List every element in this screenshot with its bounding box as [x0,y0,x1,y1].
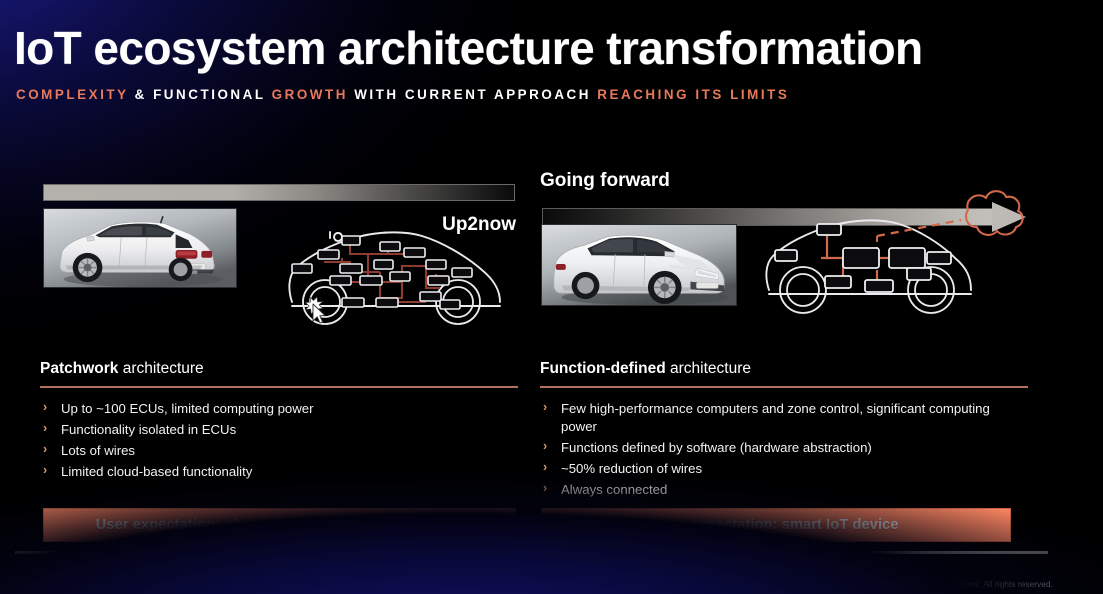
left-architecture-diagram [280,210,510,330]
svg-text:aws: aws [22,565,48,581]
left-bullet-list: ›Up to ~100 ECUs, limited computing powe… [40,400,518,481]
timeline-bar-past [43,184,515,201]
right-section-title-bold: Function-defined [540,360,666,377]
list-item: ›Functions defined by software (hardware… [540,439,1028,457]
right-section: Function-defined architecture ›Few high-… [540,360,1028,502]
right-expectation-banner: User expectation: smart IoT device [541,508,1011,542]
list-item: ›Up to ~100 ECUs, limited computing powe… [40,400,518,418]
list-item: ›Always connected [540,481,1028,499]
subtitle-part-3: WITH CURRENT APPROACH [348,87,597,102]
bullet-text: Always connected [561,482,667,497]
right-bullet-list: ›Few high-performance computers and zone… [540,400,1028,498]
chevron-right-icon: › [543,399,547,416]
right-panel: Going forward [540,178,1028,356]
bullet-text: Few high-performance computers and zone … [561,401,990,434]
left-section-title-rest: architecture [118,360,203,377]
left-section-rule [40,386,518,388]
right-section-title-rest: architecture [666,360,751,377]
left-expectation-banner: User expectation: pleasure, safety, and … [43,508,516,542]
left-section: Patchwork architecture ›Up to ~100 ECUs,… [40,360,518,484]
left-car-photo [43,208,237,288]
left-section-title: Patchwork architecture [40,360,518,378]
right-architecture-diagram [755,186,1025,321]
subtitle-part-2: GROWTH [272,87,348,102]
cloud-icon [966,191,1023,235]
subtitle-part-0: COMPLEXITY [16,87,128,102]
right-stage-label: Going forward [540,170,670,192]
chevron-right-icon: › [543,459,547,476]
list-item: ›Few high-performance computers and zone… [540,400,1028,435]
bullet-text: Limited cloud-based functionality [61,464,252,479]
right-section-rule [540,386,1028,388]
right-stage: Going forward [540,178,1028,356]
aws-logo-icon: aws [22,565,62,589]
bullet-text: Functions defined by software (hardware … [561,440,872,455]
subtitle-part-4: REACHING ITS LIMITS [597,87,789,102]
chevron-right-icon: › [43,462,47,479]
list-item: ›Functionality isolated in ECUs [40,421,518,439]
chevron-right-icon: › [543,438,547,455]
page-title: IoT ecosystem architecture transformatio… [14,24,922,72]
bullet-text: Lots of wires [61,443,135,458]
footer-divider [15,551,1048,554]
chevron-right-icon: › [43,399,47,416]
bullet-text: ~50% reduction of wires [561,461,702,476]
list-item: ›Limited cloud-based functionality [40,463,518,481]
bullet-text: Functionality isolated in ECUs [61,422,236,437]
right-section-title: Function-defined architecture [540,360,1028,378]
chevron-right-icon: › [543,480,547,497]
left-panel: Up2now [40,178,518,356]
left-section-title-bold: Patchwork [40,360,118,377]
right-car-photo [541,224,737,306]
chevron-right-icon: › [43,420,47,437]
page-subtitle: COMPLEXITY & FUNCTIONAL GROWTH WITH CURR… [16,87,789,102]
subtitle-part-1: & FUNCTIONAL [128,87,271,102]
copyright-text: © 2021, Amazon Web Services, Inc. or its… [791,580,1053,589]
list-item: ›~50% reduction of wires [540,460,1028,478]
chevron-right-icon: › [43,441,47,458]
list-item: ›Lots of wires [40,442,518,460]
left-stage: Up2now [40,178,518,356]
slide-canvas: IoT ecosystem architecture transformatio… [0,0,1103,594]
bullet-text: Up to ~100 ECUs, limited computing power [61,401,314,416]
